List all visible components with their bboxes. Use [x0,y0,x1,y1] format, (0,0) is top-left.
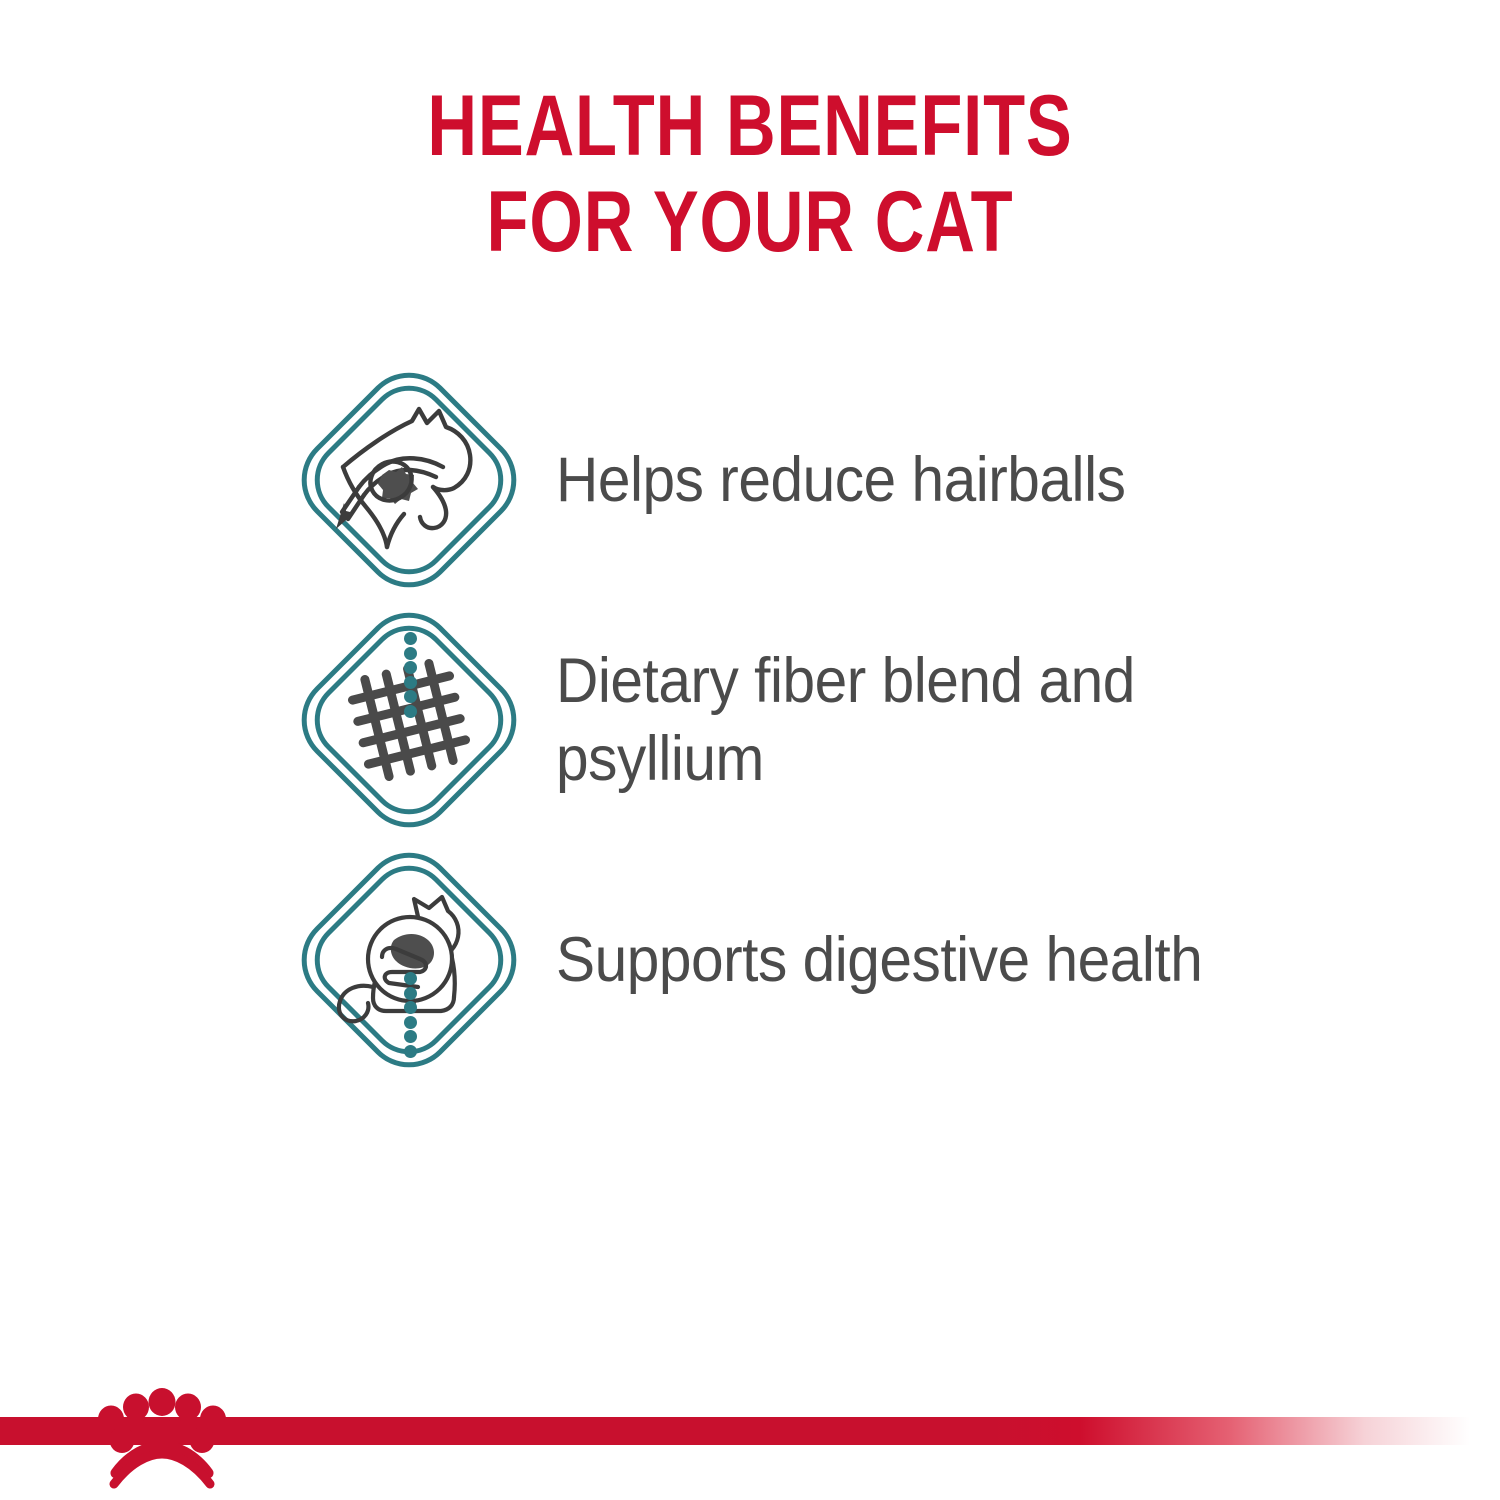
connector-dot [404,632,417,645]
connector-dot [404,647,417,660]
connector-dot [404,1001,417,1014]
connector-dots-2 [403,972,417,1058]
crown-logo [86,1378,238,1490]
page-title-line-2: FOR YOUR CAT [150,174,1350,270]
page-title: HEALTH BENEFITS FOR YOUR CAT [0,78,1500,270]
connector-dot [404,987,417,1000]
benefit-item-fiber: Dietary fiber blend and psyllium [0,600,1500,840]
benefits-list: Helps reduce hairballs [0,360,1500,1080]
connector-dot [404,1045,417,1058]
benefit-item-hairballs: Helps reduce hairballs [0,360,1500,600]
benefit-label-hairballs: Helps reduce hairballs [556,441,1125,519]
cat-hairball-icon [286,357,532,603]
connector-dot [404,972,417,985]
connector-dot [404,705,417,718]
connector-dot [404,661,417,674]
connector-dot [404,1030,417,1043]
benefit-item-digestive: Supports digestive health [0,840,1500,1080]
page-title-line-1: HEALTH BENEFITS [150,78,1350,174]
benefit-label-digestive: Supports digestive health [556,921,1202,999]
connector-dot [404,1016,417,1029]
connector-dot [404,690,417,703]
health-benefits-panel: HEALTH BENEFITS FOR YOUR CAT [0,0,1500,1500]
benefit-label-fiber: Dietary fiber blend and psyllium [556,642,1263,798]
connector-dots-1 [403,632,417,718]
connector-dot [404,676,417,689]
